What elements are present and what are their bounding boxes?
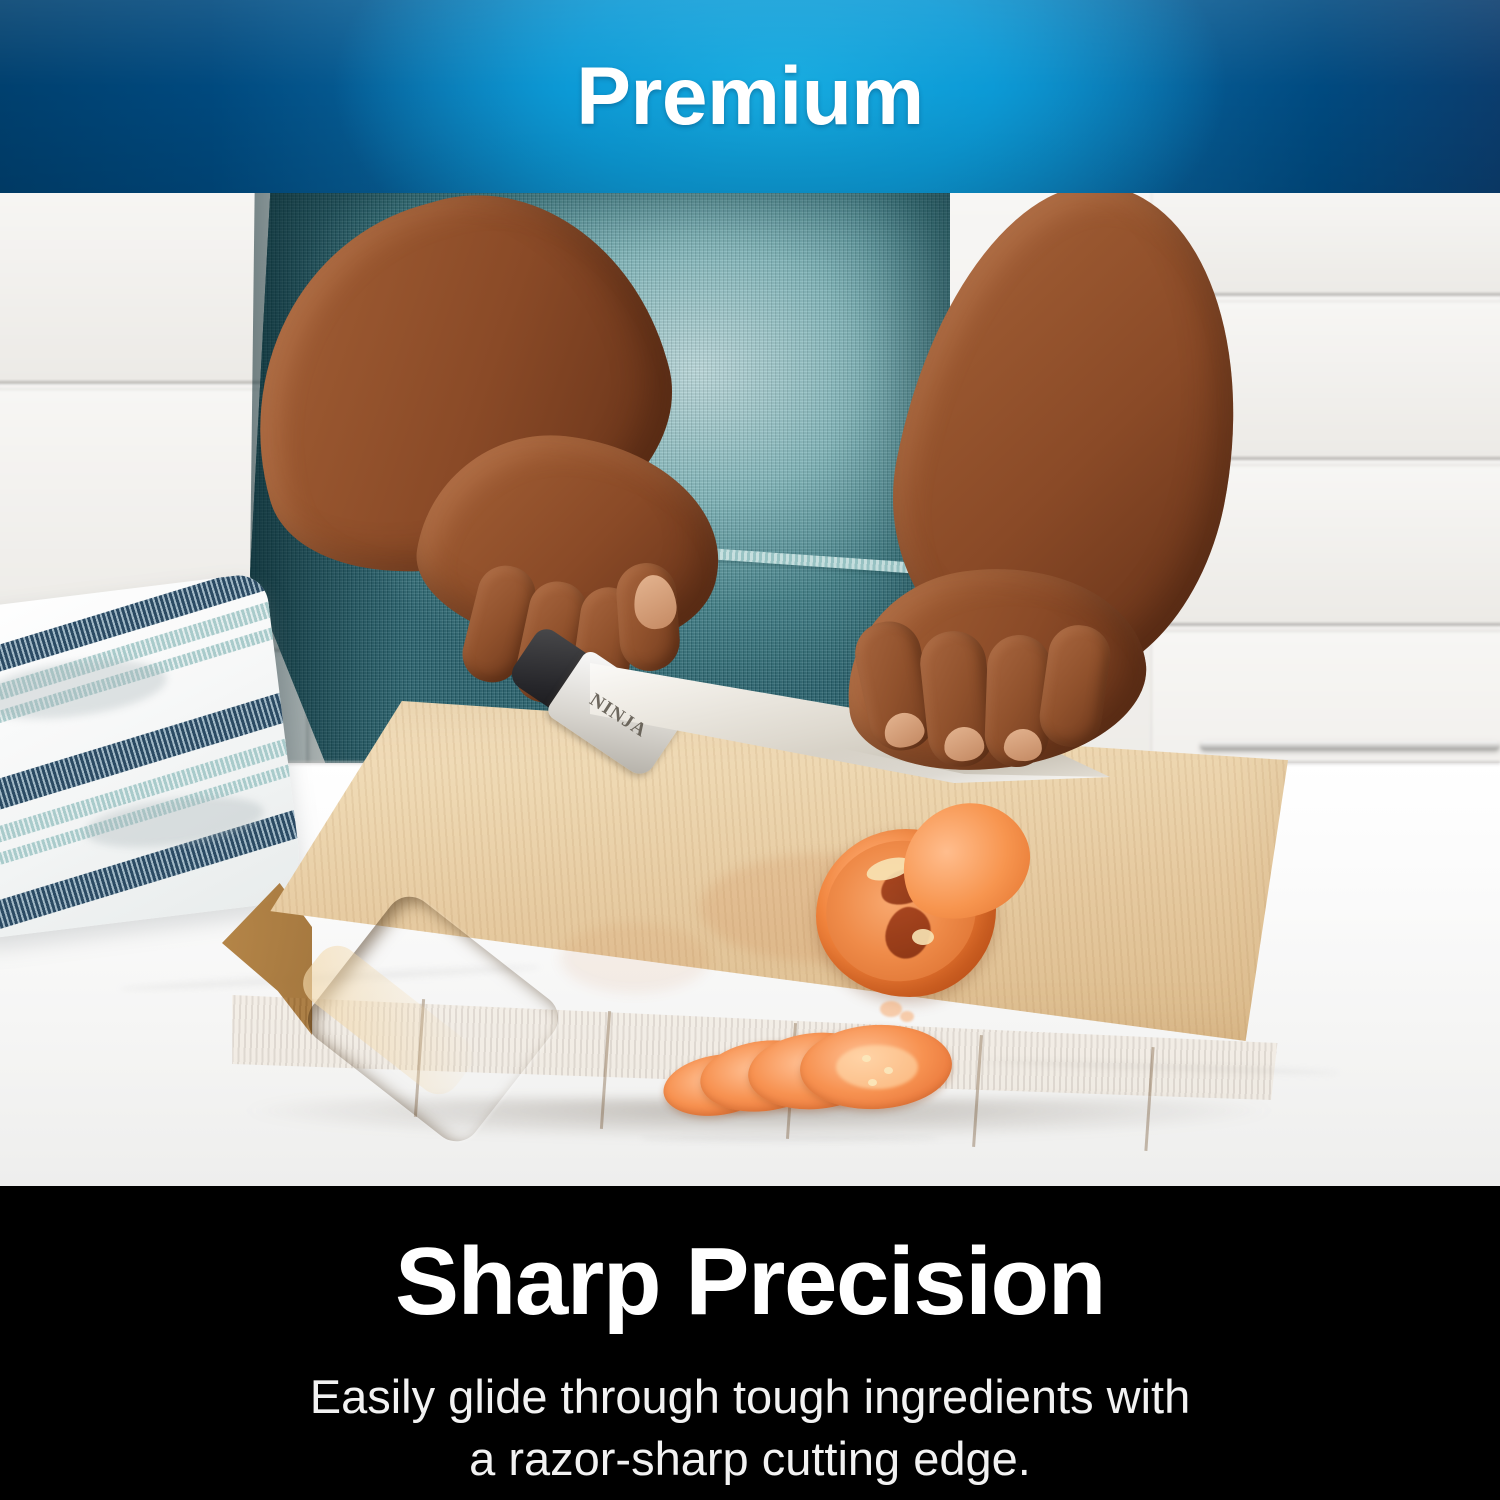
caption-subtitle-line-2: a razor-sharp cutting edge.	[0, 1428, 1500, 1490]
caption-headline: Sharp Precision	[0, 1186, 1500, 1330]
kitchen-towel	[0, 572, 305, 940]
banner-title: Premium	[0, 0, 1500, 193]
caption-section: Sharp Precision Easily glide through tou…	[0, 1186, 1500, 1500]
caption-subtitle: Easily glide through tough ingredients w…	[0, 1330, 1500, 1490]
cabinet-handle	[1200, 741, 1500, 750]
premium-banner: Premium	[0, 0, 1500, 193]
product-feature-card: Premium	[0, 0, 1500, 1500]
caption-subtitle-line-1: Easily glide through tough ingredients w…	[0, 1366, 1500, 1428]
product-photo: NINJA	[0, 193, 1500, 1186]
